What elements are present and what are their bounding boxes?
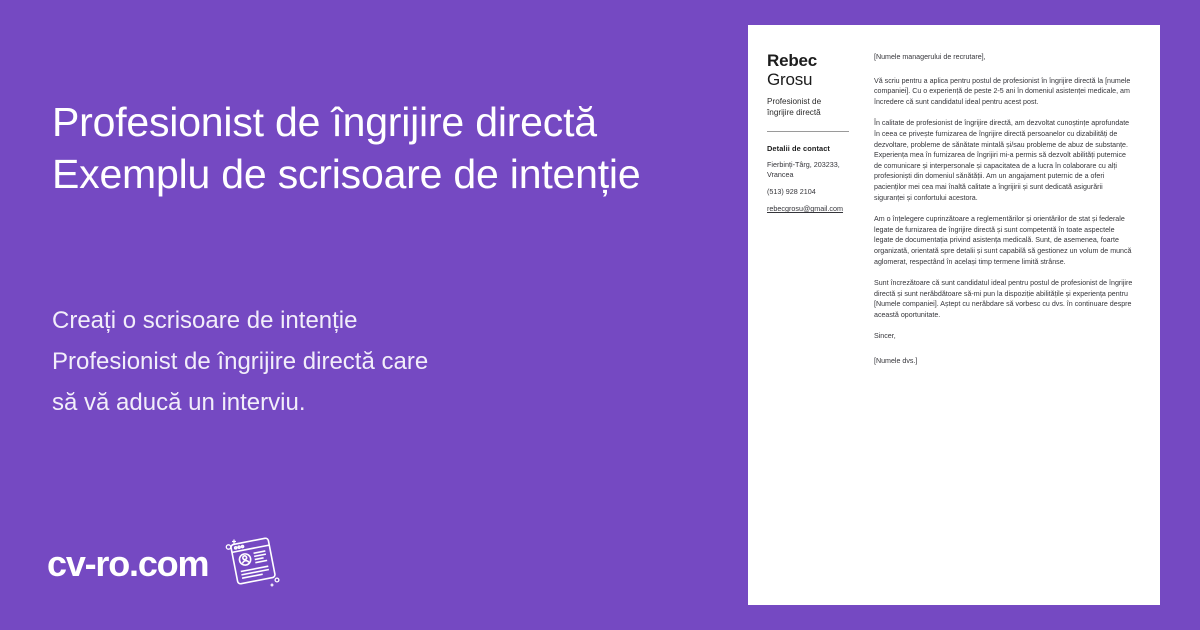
letter-sidebar: Rebec Grosu Profesionist de îngrijire di… — [748, 25, 860, 605]
letter-paragraph-1: Vă scriu pentru a aplica pentru postul d… — [874, 76, 1134, 108]
candidate-last-name: Grosu — [767, 70, 850, 90]
candidate-first-name: Rebec — [767, 51, 850, 70]
contact-email-link[interactable]: rebecgrosu@gmail.com — [767, 204, 843, 214]
promo-panel: Profesionist de îngrijire directă Exempl… — [0, 0, 740, 630]
letter-signature-name: [Numele dvs.] — [874, 356, 1134, 367]
document-card-icon — [222, 533, 284, 594]
contact-details-heading: Detalii de contact — [767, 144, 850, 153]
letter-paragraph-3: Am o înțelegere cuprinzătoare a reglemen… — [874, 214, 1134, 267]
contact-address: Fierbinți-Târg, 203233, Vrancea — [767, 160, 850, 180]
letter-sign-off: Sincer, — [874, 331, 1134, 342]
site-logo[interactable]: cv-ro.com — [47, 533, 284, 594]
contact-phone: (513) 928 2104 — [767, 187, 850, 197]
site-logo-text: cv-ro.com — [47, 546, 208, 582]
letter-paragraph-2: În calitate de profesionist de îngrijire… — [874, 118, 1134, 203]
page-title: Profesionist de îngrijire directă Exempl… — [52, 96, 712, 200]
candidate-role: Profesionist de îngrijire directă — [767, 96, 850, 118]
sidebar-divider — [767, 131, 849, 132]
letter-paragraph-4: Sunt încrezătoare că sunt candidatul ide… — [874, 278, 1134, 320]
letter-salutation: [Numele managerului de recrutare], — [874, 52, 1134, 63]
cover-letter-preview[interactable]: Rebec Grosu Profesionist de îngrijire di… — [748, 25, 1160, 605]
letter-body: [Numele managerului de recrutare], Vă sc… — [860, 25, 1160, 605]
promo-subheadline: Creați o scrisoare de intenție Profesion… — [52, 300, 572, 423]
